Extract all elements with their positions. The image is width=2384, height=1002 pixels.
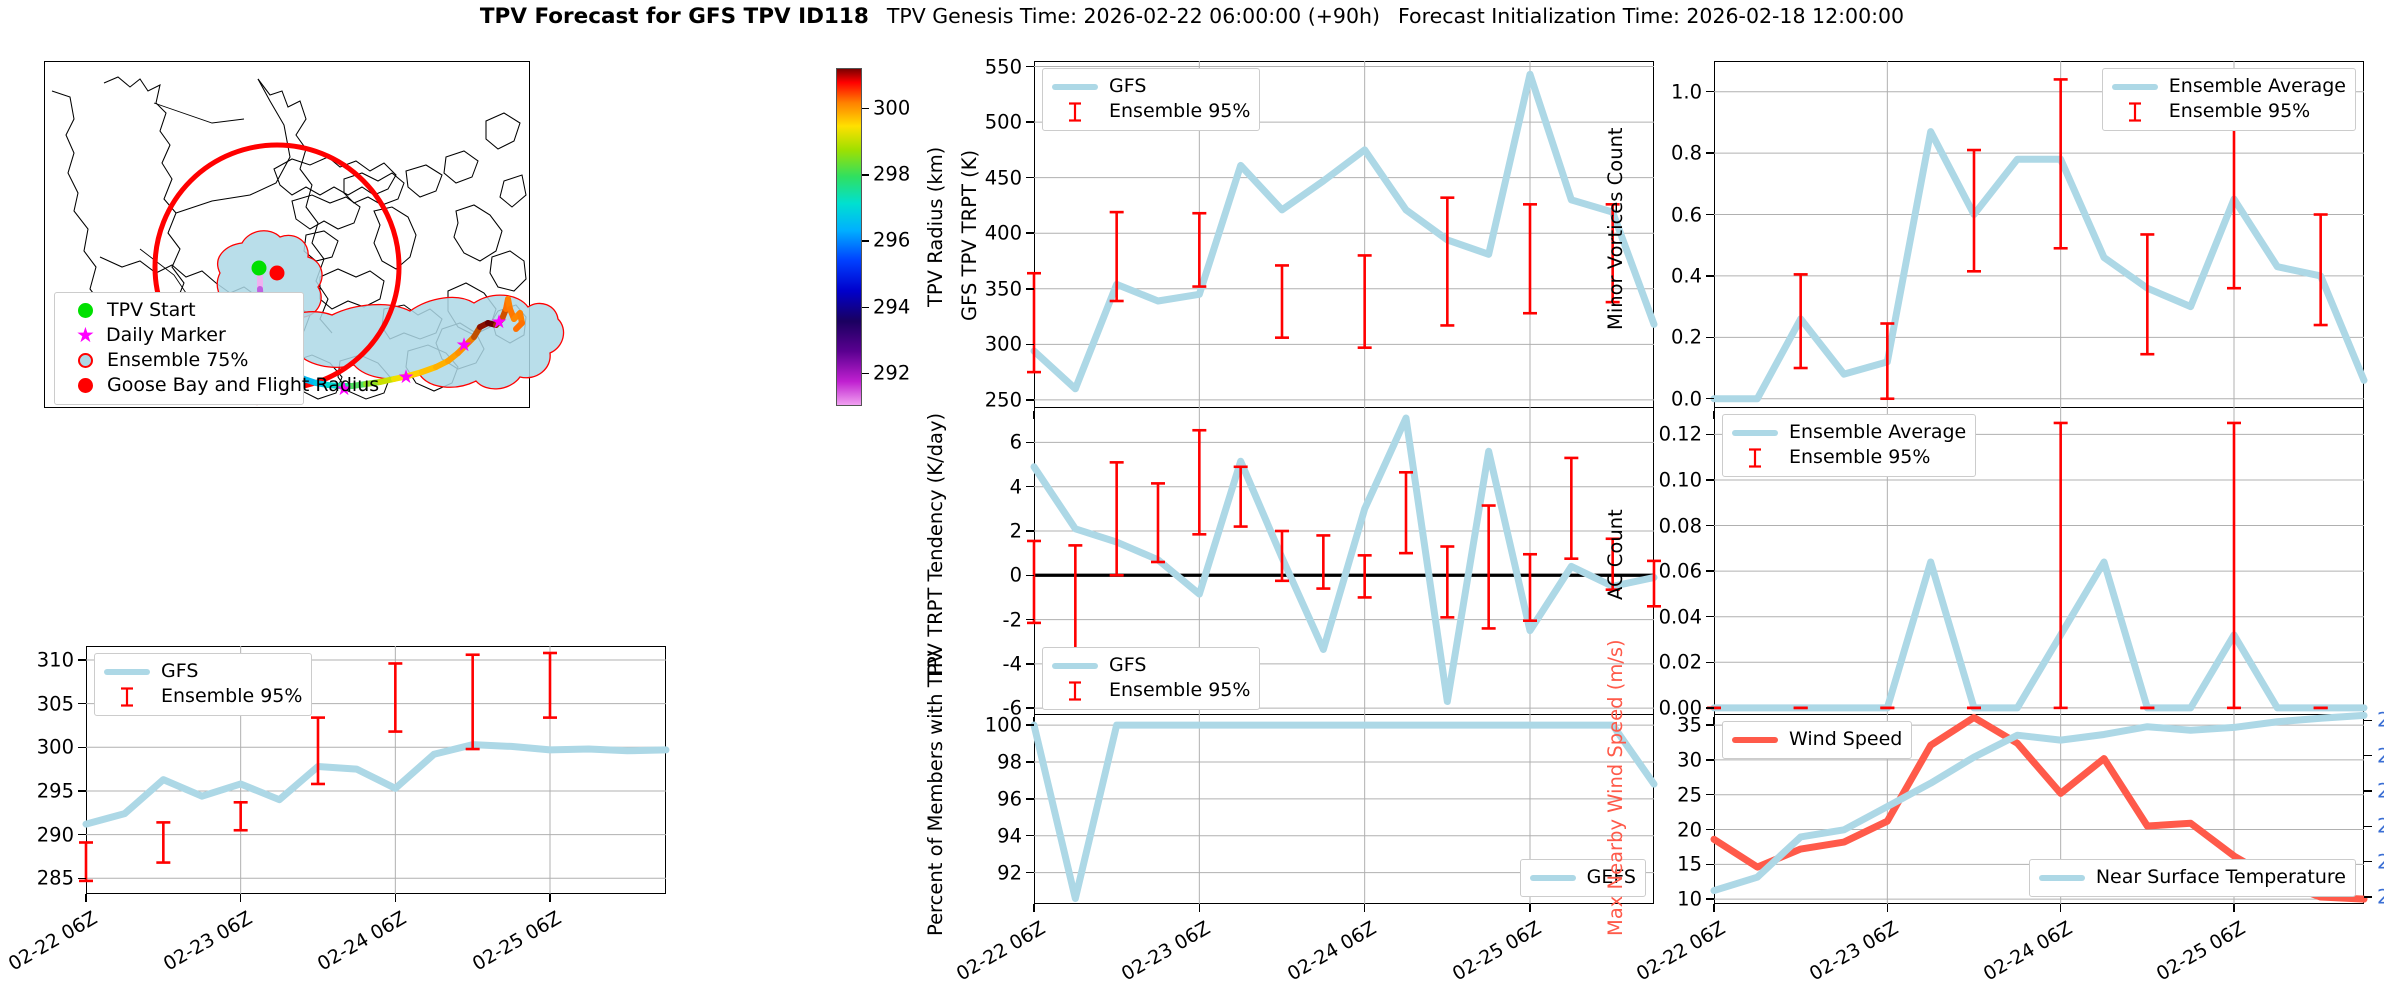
legend-label: Daily Marker [106,323,226,348]
y2-tickmark [2364,861,2372,863]
y-tick-label: 0.0 [1606,387,1702,410]
y2-tick-label: 265 [2377,850,2384,873]
legend-entry: Ensemble 95% [2112,99,2346,124]
colorbar-tick-label: 292 [873,361,910,384]
x-tick-label: 02-23 06Z [130,907,255,992]
y-tickmark [1026,232,1034,234]
legend-errorbar-icon [1732,447,1778,469]
legend-line-icon [1052,84,1098,90]
x-tickmark [1364,904,1366,912]
x-tickmark [1033,904,1035,912]
x-tick-label: 02-22 06Z [0,907,101,992]
chart-legend: Ensemble AverageEnsemble 95% [2102,68,2356,131]
chart-panel-percent-members[interactable]: 92949698100Percent of Members with TPV02… [1034,714,1654,904]
x-tickmark [395,894,397,902]
x-tickmark [2233,904,2235,912]
legend-label: Ensemble Average [1789,420,1966,445]
legend-entry: ★Daily Marker [64,323,294,348]
colorbar-tickmark [862,307,869,309]
y-tickmark [1706,864,1714,866]
legend-entry: Ensemble 95% [1052,678,1250,703]
chart-panel-minor-vortices[interactable]: 0.00.20.40.60.81.0Minor Vortices CountEn… [1714,61,2364,411]
legend-label: Ensemble 95% [2169,99,2310,124]
chart-legend: Ensemble AverageEnsemble 95% [1722,414,1976,477]
y-tickmark [1706,724,1714,726]
x-tickmark [1199,904,1201,912]
y-tickmark [1706,794,1714,796]
title-main: TPV Forecast for GFS TPV ID118 [480,4,869,29]
y-tickmark [1026,121,1034,123]
legend-entry: TPV Start [64,298,294,323]
legend-label: GFS [1109,74,1146,99]
y-tick-label: 285 [0,867,74,890]
legend-label: Wind Speed [1789,727,1902,752]
y-tick-label: 550 [926,55,1022,78]
legend-circle-icon [78,378,93,393]
legend-line-icon [2039,875,2085,881]
legend-label: Ensemble 75% [107,348,248,373]
legend-circle-icon [78,303,93,318]
x-tickmark [85,894,87,902]
legend-label: Goose Bay and Flight Radius [107,373,379,398]
x-tickmark [240,894,242,902]
colorbar-tick-label: 300 [873,96,910,119]
x-tickmark [549,894,551,902]
colorbar-tickmark [862,373,869,375]
y-tickmark [1026,530,1034,532]
y-axis-label: Minor Vortices Count [1604,127,1627,330]
y-tickmark [1706,525,1714,527]
x-tick-label: 02-24 06Z [1254,917,1379,1002]
x-tick-label: 02-23 06Z [1089,917,1214,1002]
y-tick-label: 305 [0,692,74,715]
chart-legend: GFSEnsemble 95% [94,653,312,716]
x-tickmark [1713,904,1715,912]
y-tickmark [78,659,86,661]
y-tick-label: 0.10 [1606,468,1702,491]
y-tickmark [1026,288,1034,290]
y-axis-label: Percent of Members with TPV [924,650,947,936]
legend-entry: GFS [1052,653,1250,678]
y2-tickmark [2364,896,2372,898]
chart-legend: GFSEnsemble 95% [1042,647,1260,710]
y-tickmark [1026,575,1034,577]
y-tickmark [1706,214,1714,216]
legend-entry: GFS [1052,74,1250,99]
legend-ring-icon [78,353,93,368]
y-tickmark [1026,66,1034,68]
legend-line-icon [2112,84,2158,90]
y-tickmark [1706,616,1714,618]
map-legend: TPV Start★Daily MarkerEnsemble 75%Goose … [54,292,304,405]
y-tickmark [1026,663,1034,665]
y2-tick-label: 280 [2377,744,2384,767]
y-tick-label: 300 [926,333,1022,356]
y-tick-label: 1.0 [1606,80,1702,103]
y2-tickmark [2364,790,2372,792]
legend-line-icon [1530,875,1576,881]
y-tickmark [1706,434,1714,436]
legend-label: TPV Start [107,298,196,323]
y-tickmark [1706,91,1714,93]
colorbar-tickmark [862,240,869,242]
chart-panel-tpv-trpt[interactable]: 285290295300305310TPV TRPT (K)02-22 06Z0… [86,646,666,894]
y-tickmark [1026,707,1034,709]
y-tickmark [1026,442,1034,444]
y-tickmark [78,834,86,836]
legend-entry: Ensemble Average [2112,74,2346,99]
y2-tick-label: 275 [2377,779,2384,802]
y-tickmark [1026,486,1034,488]
legend-label: Ensemble 95% [1109,678,1250,703]
legend-line-icon [1052,663,1098,669]
legend-label: Near Surface Temperature [2096,865,2346,890]
y-axis-label: TPV TRPT (K) [0,700,1,827]
y-tick-label: 0.12 [1606,423,1702,446]
y-tick-label: 0.04 [1606,605,1702,628]
legend-entry: Ensemble Average [1732,420,1966,445]
y-axis-label: AC Count [1604,509,1627,600]
y-tickmark [1706,759,1714,761]
legend-entry: Ensemble 95% [104,684,302,709]
x-tick-label: 02-25 06Z [2124,917,2249,1002]
y-tick-label: 295 [0,779,74,802]
svg-text:★: ★ [490,311,507,333]
y-tickmark [1706,707,1714,709]
y-tickmark [1026,872,1034,874]
y-tickmark [1026,344,1034,346]
y-tick-label: 300 [0,736,74,759]
legend-label: Ensemble Average [2169,74,2346,99]
chart-legend: GFSEnsemble 95% [1042,68,1260,131]
svg-text:★: ★ [455,334,472,356]
legend-label: GFS [161,659,198,684]
chart-panel-tpv-radius[interactable]: 250300350400450500550TPV Radius (km)GFSE… [1034,61,1654,411]
x-tickmark [1529,904,1531,912]
x-tick-label: 02-25 06Z [1420,917,1545,1002]
y-axis-label: TPV TRPT Tendency (K/day) [924,412,947,679]
legend-label: Ensemble 95% [1109,99,1250,124]
legend-star-icon: ★ [76,325,94,346]
y-tickmark [1706,275,1714,277]
legend-entry: GFS [104,659,302,684]
y-tick-label: 250 [926,388,1022,411]
y-axis-label: Max Nearby Wind Speed (m/s) [1604,639,1627,936]
legend-entry: Goose Bay and Flight Radius [64,373,294,398]
legend-label: Ensemble 95% [161,684,302,709]
y-tick-label: 310 [0,648,74,671]
title-genesis: TPV Genesis Time: 2026-02-22 06:00:00 (+… [887,4,1380,28]
y2-tickmark [2364,826,2372,828]
y-tickmark [78,747,86,749]
legend-entry: Near Surface Temperature [2039,865,2346,890]
x-tickmark [1887,904,1889,912]
y-tickmark [1026,177,1034,179]
y-tickmark [1026,399,1034,401]
y-tickmark [1706,337,1714,339]
y-tickmark [78,878,86,880]
tpv-track-map-panel[interactable]: ★★★★ TPV Start★Daily MarkerEnsemble 75%G… [44,61,530,408]
y2-tick-label: 260 [2377,885,2384,908]
y2-tickmark [2364,720,2372,722]
legend-line-icon [104,669,150,675]
chart-legend: Near Surface Temperature [2029,859,2356,897]
chart-legend: Wind Speed [1722,721,1912,759]
title-init: Forecast Initialization Time: 2026-02-18… [1398,4,1904,28]
y-tickmark [1706,479,1714,481]
legend-errorbar-icon [1052,101,1098,123]
colorbar-tickmark [862,108,869,110]
legend-entry: Ensemble 95% [1052,99,1250,124]
legend-line-icon [1732,430,1778,436]
legend-entry: Wind Speed [1732,727,1902,752]
legend-errorbar-icon [104,686,150,708]
legend-line-icon [1732,737,1778,743]
y-tickmark [78,790,86,792]
y-tickmark [1026,761,1034,763]
colorbar [836,68,862,406]
y-tickmark [1706,398,1714,400]
y-tick-label: 500 [926,111,1022,134]
page-title: TPV Forecast for GFS TPV ID118TPV Genesi… [0,4,2384,29]
legend-errorbar-icon [2112,101,2158,123]
x-tick-label: 02-24 06Z [285,907,410,992]
y-tickmark [1706,570,1714,572]
x-tick-label: 02-23 06Z [1777,917,1902,1002]
y-tickmark [1706,152,1714,154]
y-tickmark [1026,798,1034,800]
colorbar-tick-label: 294 [873,295,910,318]
colorbar-tickmark [862,174,869,176]
x-tick-label: 02-25 06Z [440,907,565,992]
svg-text:★: ★ [397,366,414,388]
y-tickmark [1706,829,1714,831]
chart-panel-wind-and-temperature[interactable]: 101520253035260265270275280285Near Surfa… [1714,714,2364,904]
legend-errorbar-icon [1052,680,1098,702]
chart-panel-tpv-trpt-tendency[interactable]: -6-4-20246TPV TRPT Tendency (K/day)GFSEn… [1034,407,1654,717]
y2-tick-label: 285 [2377,709,2384,732]
colorbar-tick-label: 298 [873,163,910,186]
legend-label: Ensemble 95% [1789,445,1930,470]
y-tick-label: 290 [0,823,74,846]
legend-entry: Ensemble 95% [1732,445,1966,470]
figure-canvas: TPV Forecast for GFS TPV ID118TPV Genesi… [0,0,2384,982]
x-tick-label: 02-24 06Z [1950,917,2075,1002]
legend-label: GFS [1109,653,1146,678]
y2-tick-label: 270 [2377,815,2384,838]
y-tickmark [1706,662,1714,664]
y-tickmark [1026,724,1034,726]
y-axis-label: TPV Radius (km) [924,146,947,306]
colorbar-gradient [837,69,861,405]
chart-panel-ac-count[interactable]: 0.000.020.040.060.080.100.12AC CountEnse… [1714,407,2364,717]
colorbar-tick-label: 296 [873,229,910,252]
y-tickmark [1026,619,1034,621]
legend-entry: Ensemble 75% [64,348,294,373]
x-tickmark [2060,904,2062,912]
y-tickmark [1706,898,1714,900]
y-tickmark [1026,835,1034,837]
y2-tickmark [2364,755,2372,757]
y-tickmark [78,703,86,705]
